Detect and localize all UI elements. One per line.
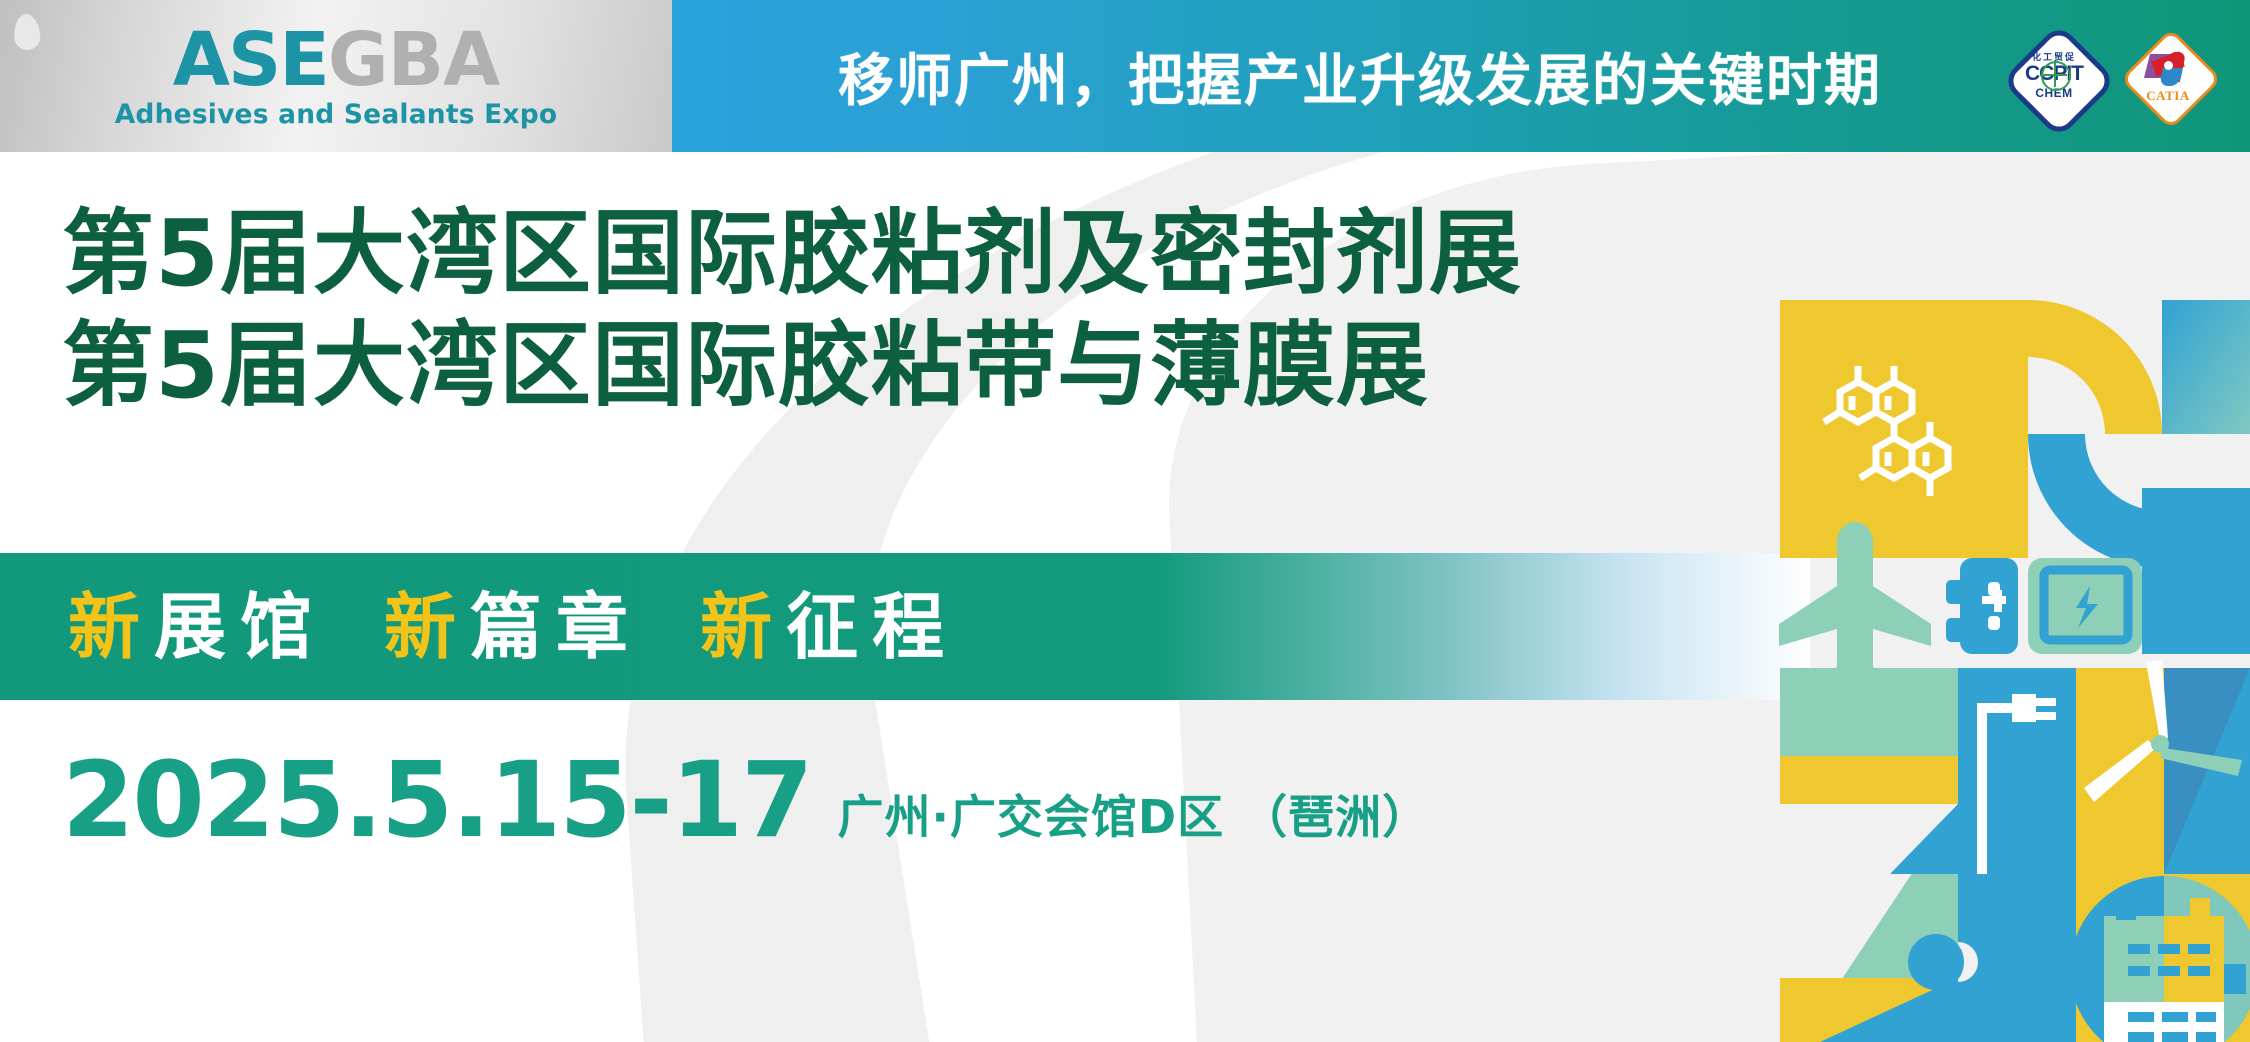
- arc-segment-shape-blue: [2028, 434, 2162, 568]
- slogan-3-rest: 征程: [786, 585, 958, 669]
- catia-emblem-icon: [2145, 50, 2191, 88]
- screen-panel-icon: [2028, 558, 2142, 654]
- mint-block-1: [1780, 668, 1958, 756]
- poster-canvas: ASE GBA Adhesives and Sealants Expo 移师广州…: [0, 0, 2250, 1042]
- event-venue: 广州·广交会馆D区 （琶洲）: [837, 794, 1429, 840]
- partner-logo-group: 化工贸促 CCPIT CHEM: [2008, 30, 2214, 122]
- page-title-line-2: 第5届大湾区国际胶粘带与薄膜展: [62, 310, 1762, 422]
- arc-segment-shape: [2028, 300, 2162, 434]
- ccpit-logo-content: 化工贸促 CCPIT CHEM: [2008, 30, 2100, 122]
- battery-charge-icon: [1946, 558, 2018, 654]
- slogan-band: 新展馆新篇章新征程: [0, 553, 1810, 700]
- catia-acronym: CATIA: [2146, 89, 2189, 102]
- slogan-1-rest: 展馆: [154, 585, 326, 669]
- globe-icon: [2041, 61, 2071, 91]
- brand-logo-block[interactable]: ASE GBA Adhesives and Sealants Expo: [0, 0, 672, 152]
- graphic-svg: [1760, 270, 2250, 1042]
- ase-wordmark: ASE: [173, 23, 328, 97]
- main-title-block: 第5届大湾区国际胶粘剂及密封剂展 第5届大湾区国际胶粘带与薄膜展: [62, 198, 1762, 422]
- yellow-strip: [1780, 756, 1958, 804]
- logo-wordmark-row: ASE GBA: [173, 23, 500, 97]
- event-info-row: 2025.5.15-17 广州·广交会馆D区 （琶洲）: [62, 748, 1429, 852]
- blue-block-right: [2142, 558, 2250, 654]
- page-title-line-1: 第5届大湾区国际胶粘剂及密封剂展: [62, 198, 1762, 310]
- header-slogan-band: 移师广州，把握产业升级发展的关键时期 化工贸促 CCPIT CHEM: [672, 0, 2250, 152]
- teal-gradient-block: [2162, 300, 2250, 434]
- catia-shape-dot: [2164, 61, 2173, 70]
- slogan-text: 新展馆新篇章新征程: [68, 591, 958, 663]
- catia-shape-blue: [2159, 68, 2183, 86]
- gba-wordmark: GBA: [328, 23, 499, 97]
- slogan-1-highlight: 新: [68, 585, 154, 669]
- ccpit-chem-logo[interactable]: 化工贸促 CCPIT CHEM: [2008, 30, 2100, 122]
- yellow-block-molecule: [1780, 300, 2028, 558]
- slogan-2-rest: 篇章: [470, 585, 642, 669]
- header-bar: ASE GBA Adhesives and Sealants Expo 移师广州…: [0, 0, 2250, 152]
- ccpit-acronym: CCPIT: [2025, 63, 2083, 84]
- slogan-3-highlight: 新: [700, 585, 786, 669]
- catia-logo-content: CATIA: [2122, 30, 2214, 122]
- water-drop-icon: [13, 13, 41, 51]
- decorative-graphic-panel: [1760, 270, 2250, 1042]
- header-slogan-text: 移师广州，把握产业升级发展的关键时期: [672, 36, 2008, 117]
- ase-gba-logo: ASE GBA Adhesives and Sealants Expo: [115, 23, 558, 129]
- event-date: 2025.5.15-17: [62, 748, 811, 852]
- logo-tagline: Adhesives and Sealants Expo: [115, 102, 558, 129]
- blue-triangle: [1890, 804, 1958, 874]
- catia-logo[interactable]: CATIA: [2122, 30, 2214, 122]
- slogan-2-highlight: 新: [384, 585, 470, 669]
